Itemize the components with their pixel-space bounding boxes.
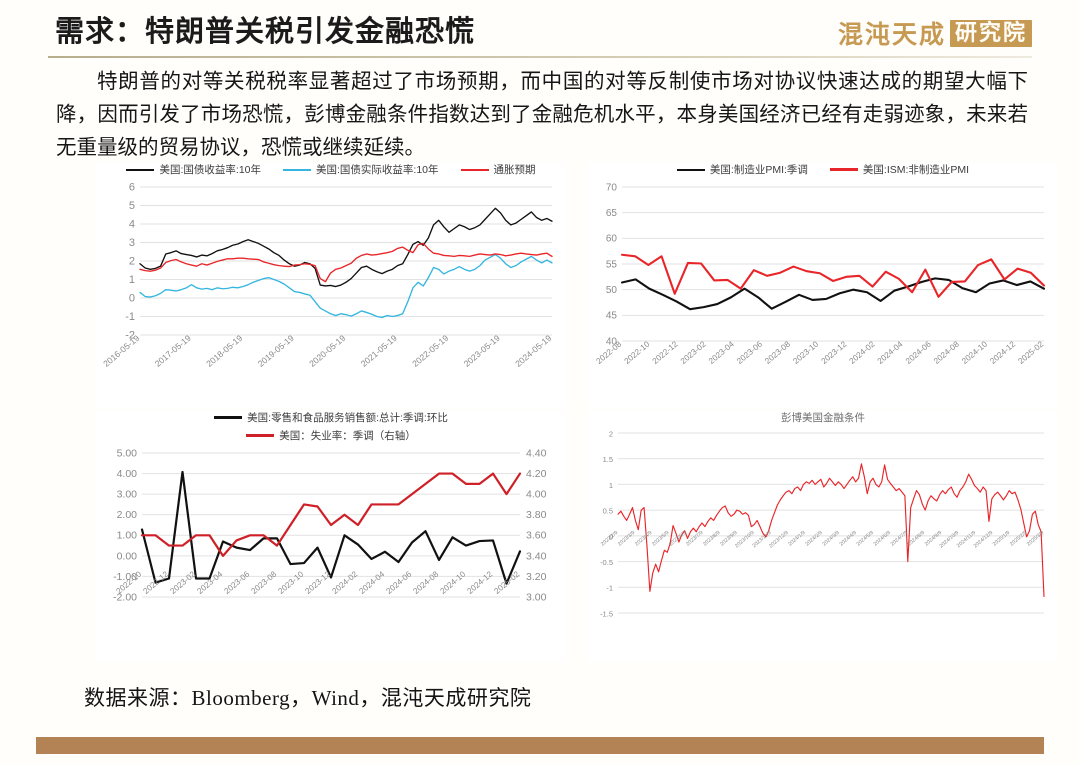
svg-text:2: 2: [609, 429, 613, 438]
svg-text:4.00: 4.00: [117, 468, 138, 480]
chart2-plot: 706560555045402022-082022-102022-122023-…: [588, 177, 1058, 397]
svg-text:2023-10: 2023-10: [791, 339, 820, 365]
svg-text:2024-02: 2024-02: [330, 569, 359, 595]
svg-text:2020-05-19: 2020-05-19: [307, 333, 347, 369]
chart1-plot: 6543210-1-22016-05-192017-05-192018-05-1…: [96, 177, 566, 397]
legend-label: 美国:制造业PMI:季调: [710, 162, 808, 177]
svg-text:2025-02: 2025-02: [492, 569, 521, 595]
svg-text:2023-05-19: 2023-05-19: [462, 333, 502, 369]
chart2-legend: 美国:制造业PMI:季调 美国:ISM:非制造业PMI: [588, 162, 1058, 177]
svg-text:2022-12: 2022-12: [141, 569, 170, 595]
svg-text:2016-05-19: 2016-05-19: [101, 333, 141, 369]
svg-text:2023-04: 2023-04: [707, 339, 736, 365]
svg-text:2022-10: 2022-10: [623, 339, 652, 365]
svg-text:2024-06: 2024-06: [904, 339, 933, 365]
svg-text:-1: -1: [125, 311, 135, 323]
data-source-note: 数据来源：Bloomberg，Wind，混沌天成研究院: [84, 682, 531, 712]
svg-text:4.20: 4.20: [526, 468, 547, 480]
charts-grid: 美国:国债收益率:10年 美国:国债实际收益率:10年 通胀预期 6543210…: [0, 160, 1080, 670]
chart4-plot: 21.510.50-0.5-1-1.52023/2/92023/3/92023/…: [588, 425, 1058, 653]
company-logo: 混沌天成 研究院: [838, 13, 1032, 53]
svg-text:2025-02: 2025-02: [1016, 339, 1045, 365]
legend-label: 美国:国债收益率:10年: [159, 162, 261, 177]
svg-text:2023-08: 2023-08: [249, 569, 278, 595]
chart3-plot: 5.004.003.002.001.000.00-1.00-2.004.404.…: [96, 443, 566, 655]
svg-text:2023-02: 2023-02: [679, 339, 708, 365]
legend-item: 美国:制造业PMI:季调: [677, 162, 808, 177]
svg-text:2024-04: 2024-04: [357, 569, 386, 595]
svg-text:2023-04: 2023-04: [195, 569, 224, 595]
legend-label: 美国:ISM:非制造业PMI: [863, 162, 969, 177]
header-divider: [48, 56, 1032, 58]
bottom-accent-bar: [36, 737, 1044, 754]
svg-text:2023-10: 2023-10: [276, 569, 305, 595]
svg-text:2024-10: 2024-10: [438, 569, 467, 595]
body-paragraph: 特朗普的对等关税税率显著超过了市场预期，而中国的对等反制使市场对协议快速达成的期…: [56, 66, 1028, 166]
svg-text:65: 65: [606, 208, 618, 219]
legend-item: 美国：失业率：季调（右轴）: [246, 428, 416, 443]
svg-text:5: 5: [129, 200, 135, 212]
svg-text:45: 45: [606, 311, 618, 322]
svg-text:3.40: 3.40: [526, 550, 547, 562]
svg-text:2024-04: 2024-04: [876, 339, 905, 365]
svg-text:2023-08: 2023-08: [763, 339, 792, 365]
svg-text:2023/8/9: 2023/8/9: [702, 530, 721, 548]
legend-item: 通胀预期: [461, 162, 536, 177]
svg-text:2023/12/9: 2023/12/9: [768, 530, 790, 550]
svg-text:50: 50: [606, 285, 618, 296]
svg-text:2024/3/9: 2024/3/9: [821, 530, 840, 548]
svg-text:2024/4/9: 2024/4/9: [839, 530, 858, 548]
svg-text:3.00: 3.00: [117, 489, 138, 501]
legend-item: 美国:国债实际收益率:10年: [283, 162, 439, 177]
svg-text:3.80: 3.80: [526, 509, 547, 521]
chart-bloomberg-financial-conditions: 彭博美国金融条件 21.510.50-0.5-1-1.52023/2/92023…: [588, 410, 1058, 662]
legend-label: 美国：失业率：季调（右轴）: [279, 428, 416, 443]
svg-text:2023/4/9: 2023/4/9: [634, 530, 653, 548]
svg-text:2024-08: 2024-08: [411, 569, 440, 595]
svg-text:2024-08: 2024-08: [932, 339, 961, 365]
svg-text:6: 6: [129, 181, 135, 193]
svg-text:-1.5: -1.5: [600, 609, 613, 618]
chart1-legend: 美国:国债收益率:10年 美国:国债实际收益率:10年 通胀预期: [96, 162, 566, 177]
svg-text:2024/5/9: 2024/5/9: [856, 530, 875, 548]
chart3-legend: 美国:零售和食品服务销售额:总计:季调:环比 美国：失业率：季调（右轴）: [96, 410, 566, 443]
svg-text:2024-06: 2024-06: [384, 569, 413, 595]
svg-text:2025/2/9: 2025/2/9: [1009, 530, 1028, 548]
svg-text:0: 0: [129, 292, 135, 304]
svg-text:3: 3: [129, 237, 135, 249]
svg-text:1.5: 1.5: [603, 455, 613, 464]
logo-institute-badge: 研究院: [950, 20, 1032, 47]
legend-item: 美国:零售和食品服务销售额:总计:季调:环比: [214, 410, 448, 425]
svg-text:2023/7/9: 2023/7/9: [685, 530, 704, 548]
svg-text:2018-05-19: 2018-05-19: [204, 333, 244, 369]
svg-text:2: 2: [129, 255, 135, 267]
svg-text:2023-12: 2023-12: [303, 569, 332, 595]
svg-text:2023-06: 2023-06: [222, 569, 251, 595]
svg-text:2023-12: 2023-12: [820, 339, 849, 365]
legend-item: 美国:ISM:非制造业PMI: [830, 162, 969, 177]
svg-text:2022-12: 2022-12: [651, 339, 680, 365]
svg-text:1: 1: [129, 274, 135, 286]
svg-text:2024-10: 2024-10: [960, 339, 989, 365]
svg-text:60: 60: [606, 234, 618, 245]
svg-text:-0.5: -0.5: [600, 558, 613, 567]
svg-text:2024/6/9: 2024/6/9: [873, 530, 892, 548]
svg-text:2022-05-19: 2022-05-19: [410, 333, 450, 369]
svg-text:70: 70: [606, 182, 618, 193]
legend-item: 美国:国债收益率:10年: [126, 162, 261, 177]
legend-label: 美国:国债实际收益率:10年: [316, 162, 439, 177]
logo-seal-text: 混沌天成: [838, 15, 946, 51]
svg-text:2024/1/9: 2024/1/9: [787, 530, 806, 548]
slide-header: 需求：特朗普关税引发金融恐慌 混沌天成 研究院: [0, 0, 1080, 58]
svg-text:-1: -1: [606, 584, 613, 593]
svg-text:4: 4: [129, 218, 135, 230]
chart-us-pmi: 美国:制造业PMI:季调 美国:ISM:非制造业PMI 706560555045…: [588, 162, 1058, 407]
svg-text:2023/3/9: 2023/3/9: [617, 530, 636, 548]
svg-text:3.60: 3.60: [526, 530, 547, 542]
chart4-title: 彭博美国金融条件: [588, 410, 1058, 425]
chart-retail-unemployment: 美国:零售和食品服务销售额:总计:季调:环比 美国：失业率：季调（右轴） 5.0…: [96, 410, 566, 662]
svg-text:55: 55: [606, 259, 618, 270]
svg-text:2017-05-19: 2017-05-19: [153, 333, 193, 369]
svg-text:5.00: 5.00: [117, 447, 138, 459]
legend-label: 通胀预期: [494, 162, 536, 177]
page-title: 需求：特朗普关税引发金融恐慌: [55, 8, 475, 50]
svg-text:2024/7/9: 2024/7/9: [890, 530, 909, 548]
svg-text:4.00: 4.00: [526, 489, 547, 501]
svg-text:4.40: 4.40: [526, 447, 547, 459]
svg-text:3.20: 3.20: [526, 571, 547, 583]
svg-text:2.00: 2.00: [117, 509, 138, 521]
svg-text:2024-02: 2024-02: [848, 339, 877, 365]
svg-text:2024-05-19: 2024-05-19: [513, 333, 553, 369]
svg-text:2024/2/9: 2024/2/9: [804, 530, 823, 548]
svg-text:2024-12: 2024-12: [465, 569, 494, 595]
legend-label: 美国:零售和食品服务销售额:总计:季调:环比: [247, 410, 448, 425]
svg-text:2021-05-19: 2021-05-19: [359, 333, 399, 369]
svg-text:2023-06: 2023-06: [735, 339, 764, 365]
svg-text:0.5: 0.5: [603, 507, 613, 516]
svg-text:2024-12: 2024-12: [988, 339, 1017, 365]
svg-text:2024/12/9: 2024/12/9: [973, 530, 995, 550]
chart-treasury-yields: 美国:国债收益率:10年 美国:国债实际收益率:10年 通胀预期 6543210…: [96, 162, 566, 407]
svg-text:1: 1: [609, 481, 613, 490]
svg-text:0.00: 0.00: [117, 550, 138, 562]
svg-text:-2.00: -2.00: [113, 591, 137, 603]
svg-text:2023-02: 2023-02: [168, 569, 197, 595]
svg-text:2023/5/9: 2023/5/9: [651, 530, 670, 548]
svg-text:2019-05-19: 2019-05-19: [256, 333, 296, 369]
svg-text:1.00: 1.00: [117, 530, 138, 542]
svg-text:2025/1/9: 2025/1/9: [992, 530, 1011, 548]
svg-text:3.00: 3.00: [526, 591, 547, 603]
